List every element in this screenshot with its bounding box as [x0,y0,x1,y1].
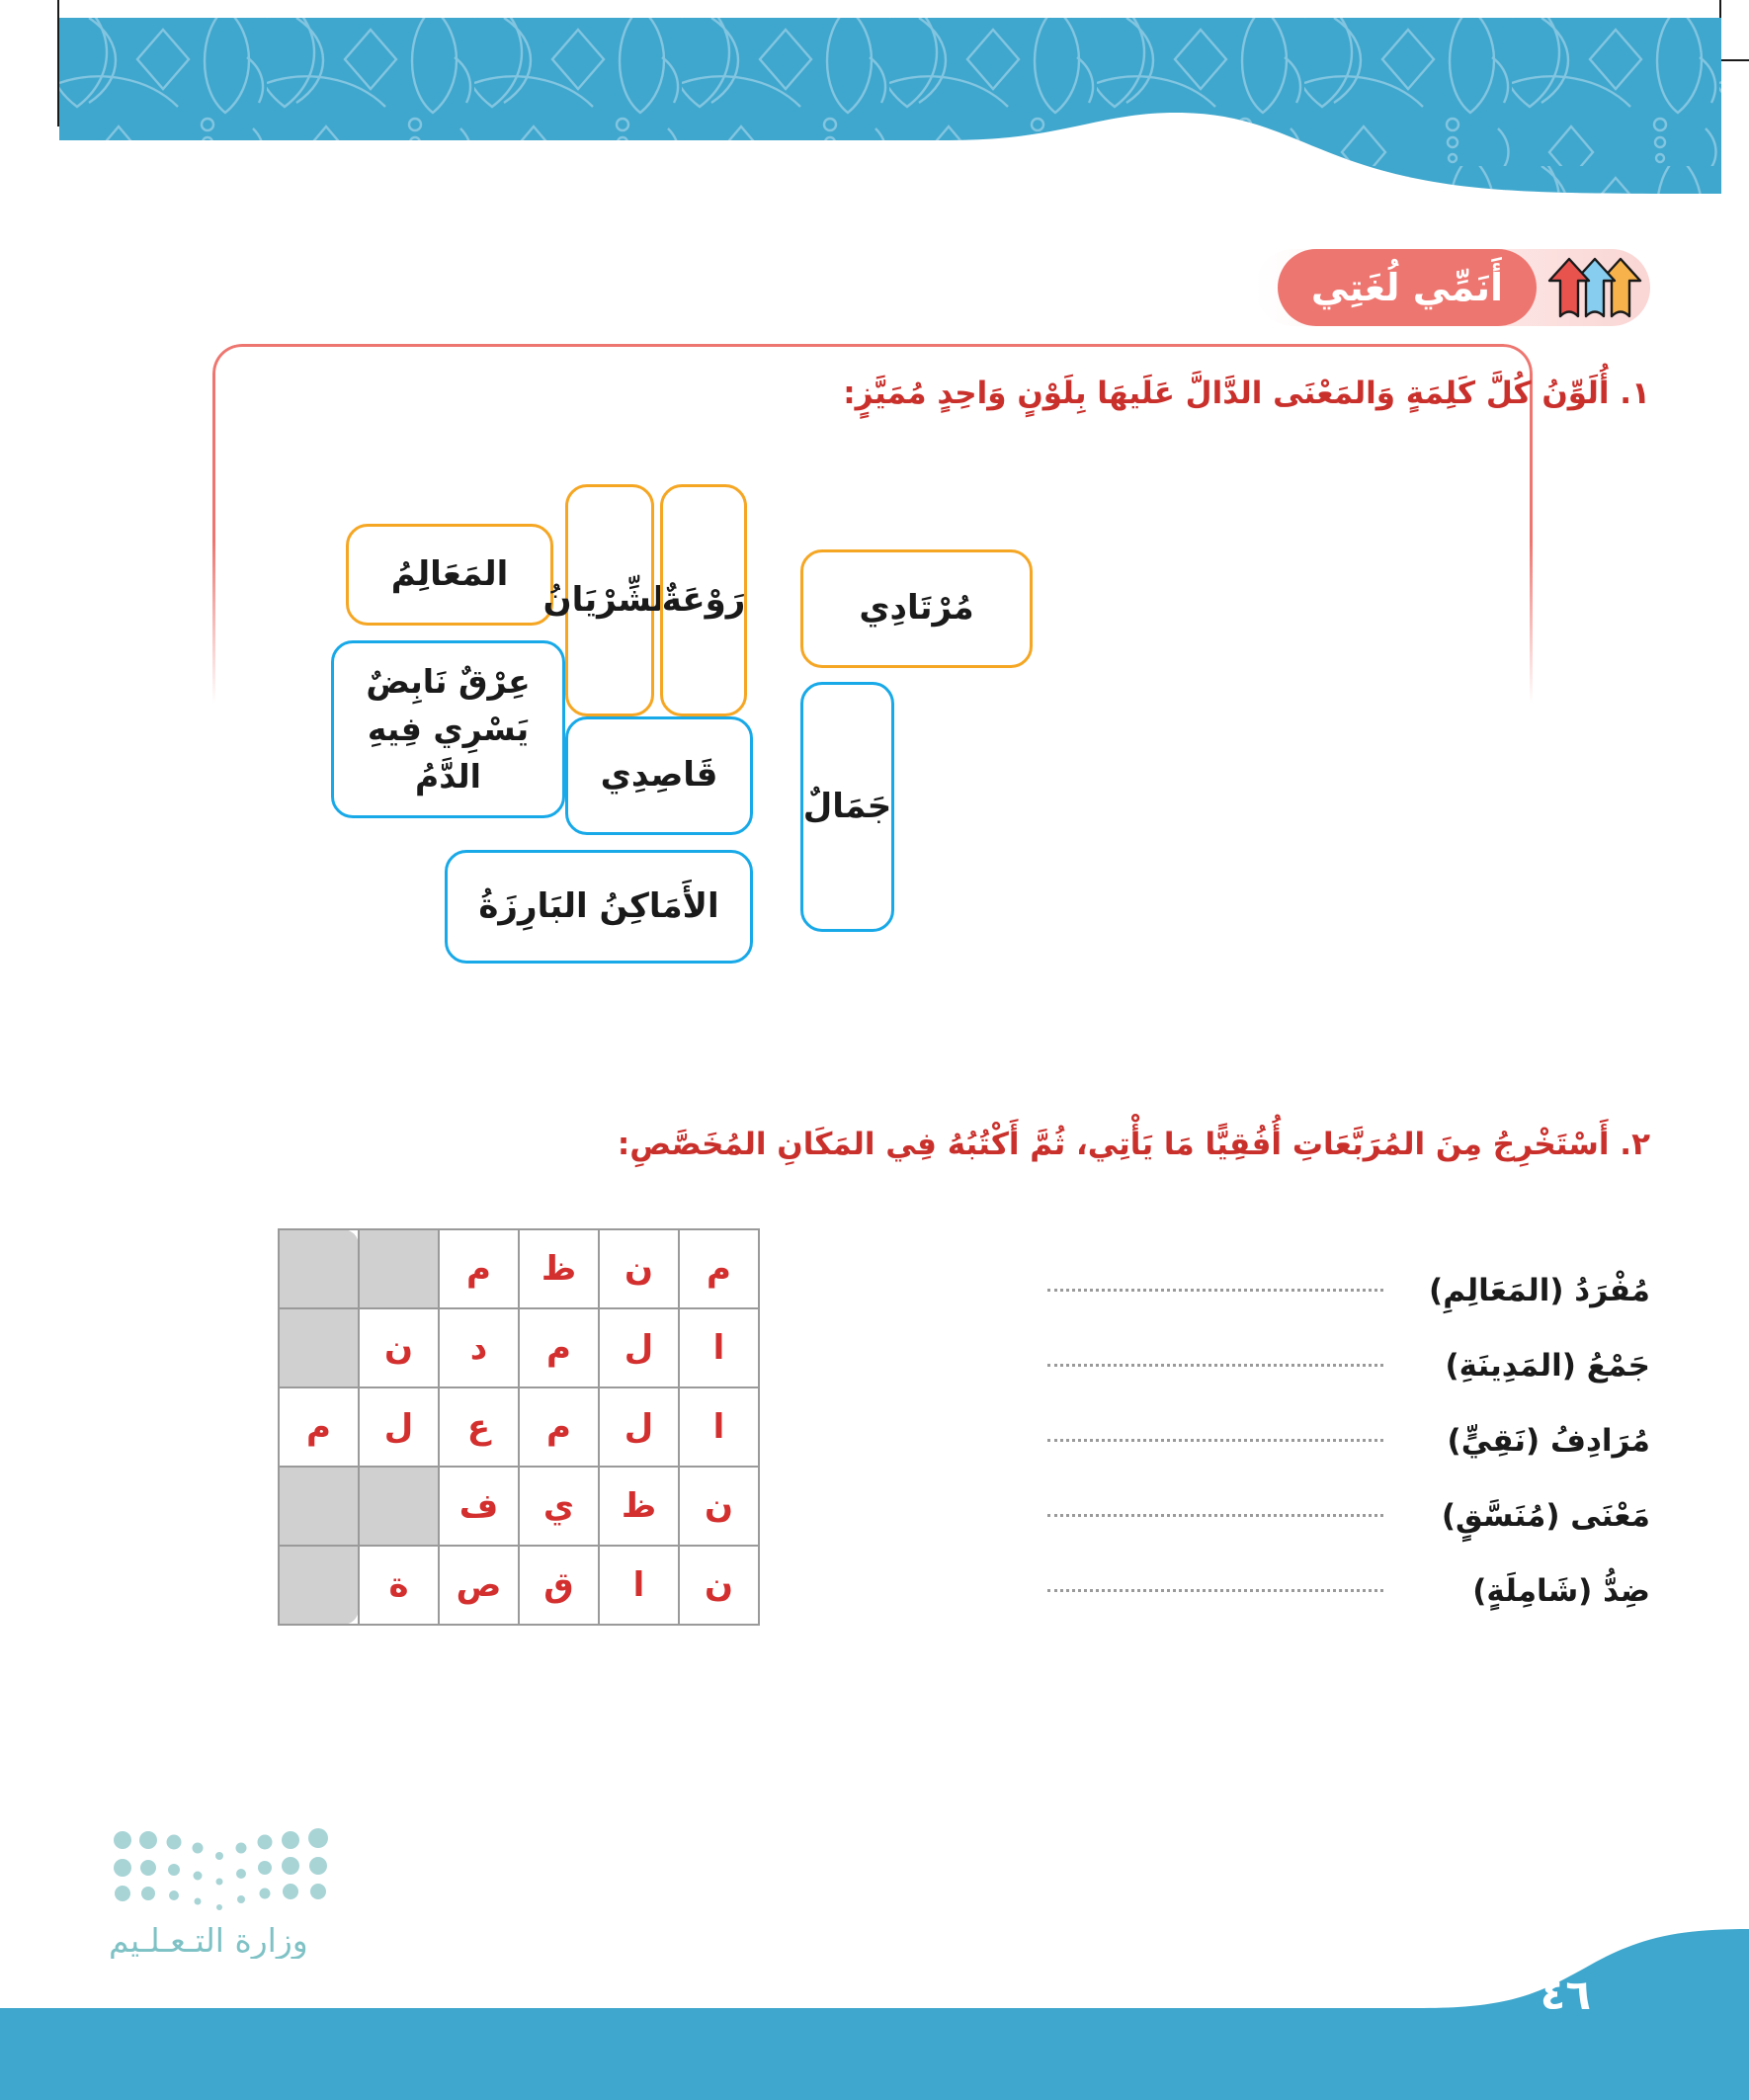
grid-cell-blank [279,1546,359,1625]
grid-cell: ن [359,1308,439,1387]
grid-cell: ا [599,1546,679,1625]
exercise2-instruction: ٢. أَسْتَخْرِجُ مِنَ المُرَبَّعَاتِ أُفُ… [618,1127,1650,1162]
answer-prompt-label: جَمْعُ (المَدِينَةِ) [1423,1348,1650,1384]
grid-cell: ل [599,1308,679,1387]
word-box-1[interactable]: المَعَالِمُ [346,524,553,626]
grid-cell: د [439,1308,519,1387]
word-box-5[interactable]: عِرْقٌ نَابِضٌ يَسْرِي فِيهِ الدَّمُ [331,640,565,818]
grid-cell: ع [439,1387,519,1467]
worksheet-page: أَنَمِّي لُغَتِي ١. أُلَوِّنُ كُلَّ كَلِ… [0,0,1749,2100]
answer-prompt-label: ضِدُّ (شَامِلَةٍ) [1423,1573,1650,1609]
grid-cell: ظ [519,1229,599,1308]
answer-prompt-row: مُفْرَدُ (المَعَالِمِ) [958,1253,1650,1328]
ministry-dots-icon [109,1822,336,1913]
grid-cell-blank [359,1229,439,1308]
grid-cell: ل [599,1387,679,1467]
grid-row: ناقصة [279,1546,759,1625]
section-badge: أَنَمِّي لُغَتِي [1278,249,1537,326]
answer-write-line[interactable] [1047,1437,1383,1442]
answer-write-line[interactable] [1047,1512,1383,1517]
grid-cell-blank [279,1229,359,1308]
grid-row: المدن [279,1308,759,1387]
grid-cell: ن [679,1467,759,1546]
footer-banner [0,1917,1749,2100]
grid-cell: م [439,1229,519,1308]
grid-cell: ا [679,1308,759,1387]
section-badge-label: أَنَمِّي لُغَتِي [1311,269,1503,306]
word-box-4[interactable]: مُرْتَادِي [800,549,1033,668]
grid-cell: ي [519,1467,599,1546]
answer-prompt-label: مُفْرَدُ (المَعَالِمِ) [1423,1273,1650,1308]
grid-cell: م [279,1387,359,1467]
header-banner [59,18,1721,225]
three-arrows-icon [1546,249,1650,326]
grid-cell-blank [279,1467,359,1546]
answer-prompt-row: جَمْعُ (المَدِينَةِ) [958,1328,1650,1403]
word-box-2[interactable]: الشِّرْيَانُ [565,484,654,716]
grid-cell-blank [359,1467,439,1546]
grid-cell: ل [359,1387,439,1467]
grid-cell: م [519,1308,599,1387]
page-number: ٤٦ [1541,1971,1591,2019]
grid-cell: م [519,1387,599,1467]
grid-cell: ن [599,1229,679,1308]
word-box-6[interactable]: قَاصِدِي [565,716,753,835]
grid-row: المعلم [279,1387,759,1467]
trim-mark-top-right-h [1719,59,1749,61]
grid-cell: ص [439,1546,519,1625]
word-box-8[interactable]: الأَمَاكِنُ البَارِزَةُ [445,850,753,964]
grid-cell: ق [519,1546,599,1625]
grid-cell: ن [679,1546,759,1625]
answer-write-line[interactable] [1047,1587,1383,1592]
word-box-7[interactable]: جَمَالٌ [800,682,894,932]
answer-prompt-row: ضِدُّ (شَامِلَةٍ) [958,1554,1650,1629]
grid-cell: ف [439,1467,519,1546]
word-match-puzzle: المَعَالِمُالشِّرْيَانُرَوْعَةٌمُرْتَادِ… [346,484,1443,1048]
grid-row: نظيف [279,1467,759,1546]
answer-write-line[interactable] [1047,1287,1383,1292]
grid-cell: ة [359,1546,439,1625]
answer-prompt-list: مُفْرَدُ (المَعَالِمِ)جَمْعُ (المَدِينَة… [958,1253,1650,1629]
word-box-3[interactable]: رَوْعَةٌ [660,484,747,716]
letter-grid: منظمالمدنالمعلمنظيفناقصة [278,1228,760,1626]
answer-prompt-row: مُرَادِفُ (نَقِيٍّ) [958,1403,1650,1478]
exercise1-instruction: ١. أُلَوِّنُ كُلَّ كَلِمَةٍ وَالمَعْنَى … [843,376,1650,411]
answer-write-line[interactable] [1047,1362,1383,1367]
grid-cell: م [679,1229,759,1308]
grid-cell: ظ [599,1467,679,1546]
section-badge-row: أَنَمِّي لُغَتِي [1278,249,1650,326]
grid-cell-blank [279,1308,359,1387]
grid-row: منظم [279,1229,759,1308]
answer-prompt-row: مَعْنَى (مُنَسَّقٍ) [958,1478,1650,1554]
answer-prompt-label: مَعْنَى (مُنَسَّقٍ) [1423,1498,1650,1534]
answer-prompt-label: مُرَادِفُ (نَقِيٍّ) [1423,1423,1650,1459]
grid-cell: ا [679,1387,759,1467]
